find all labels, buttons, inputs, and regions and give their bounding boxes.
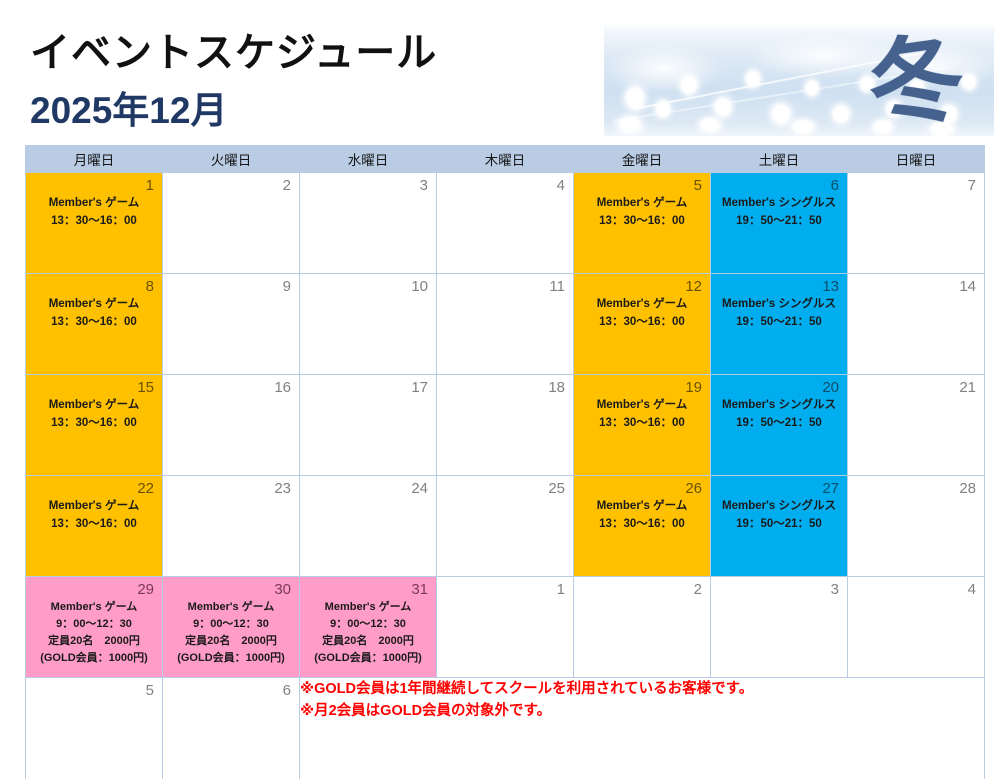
weekday-header-4: 金曜日 [574, 146, 711, 173]
day-number: 4 [437, 173, 573, 194]
day-number: 2 [163, 173, 299, 194]
day-number: 17 [300, 375, 436, 396]
snow-tree-icon [692, 112, 728, 136]
event-text-line: 13：30〜16：00 [26, 515, 162, 533]
event-text-line: Member's ゲーム [26, 295, 162, 313]
event-text-line: 13：30〜16：00 [26, 414, 162, 432]
day-number: 5 [26, 678, 162, 699]
day-cell[interactable]: 3 [711, 577, 848, 678]
day-number: 1 [437, 577, 573, 598]
event-text-line: Member's ゲーム [574, 396, 710, 414]
calendar-week-row: 29Member's ゲーム9：00〜12：30定員20名 2000円(GOLD… [26, 577, 985, 678]
event-text-line: 19：50〜21：50 [711, 414, 847, 432]
calendar-page: 冬 イベントスケジュール 2025年12月 月曜日火曜日水曜日木曜日金曜日土曜日… [0, 0, 1006, 779]
day-number: 7 [848, 173, 984, 194]
event-text-line: (GOLD会員：1000円) [163, 649, 299, 666]
event-text-line: (GOLD会員：1000円) [300, 649, 436, 666]
event-text-line: Member's シングルス [711, 295, 847, 313]
event-text-line: Member's ゲーム [574, 497, 710, 515]
event-text-line: Member's ゲーム [300, 598, 436, 615]
day-number: 10 [300, 274, 436, 295]
day-cell[interactable]: 8Member's ゲーム13：30〜16：00 [26, 274, 163, 375]
weekday-header-row: 月曜日火曜日水曜日木曜日金曜日土曜日日曜日 [26, 146, 985, 173]
day-cell[interactable]: 30Member's ゲーム9：00〜12：30定員20名 2000円(GOLD… [163, 577, 300, 678]
snow-tree-icon [800, 74, 824, 102]
day-cell[interactable]: 28 [848, 476, 985, 577]
event-text-line: 定員20名 2000円 [300, 632, 436, 649]
weekday-header-2: 水曜日 [300, 146, 437, 173]
day-number: 1 [26, 173, 162, 194]
day-number: 8 [26, 274, 162, 295]
weekday-header-1: 火曜日 [163, 146, 300, 173]
calendar-last-row: 56※GOLD会員は1年間継続してスクールを利用されているお客様です。※月2会員… [26, 678, 985, 779]
day-number: 21 [848, 375, 984, 396]
calendar-week-row: 1Member's ゲーム13：30〜16：002345Member's ゲーム… [26, 173, 985, 274]
day-number: 2 [574, 577, 710, 598]
day-number: 6 [711, 173, 847, 194]
day-cell[interactable]: 5 [26, 678, 163, 779]
day-cell[interactable]: 12Member's ゲーム13：30〜16：00 [574, 274, 711, 375]
event-text-line: Member's ゲーム [163, 598, 299, 615]
note-line: ※月2会員はGOLD会員の対象外です。 [300, 700, 984, 722]
day-cell[interactable]: 10 [300, 274, 437, 375]
snow-frost [604, 44, 724, 94]
day-cell[interactable]: 1 [437, 577, 574, 678]
event-text-line: 9：00〜12：30 [163, 615, 299, 632]
event-text-line: Member's シングルス [711, 497, 847, 515]
day-number: 30 [163, 577, 299, 598]
day-cell[interactable]: 19Member's ゲーム13：30〜16：00 [574, 375, 711, 476]
day-cell[interactable]: 3 [300, 173, 437, 274]
event-text-line: 19：50〜21：50 [711, 313, 847, 331]
day-number: 11 [437, 274, 573, 295]
day-number: 16 [163, 375, 299, 396]
day-cell[interactable]: 29Member's ゲーム9：00〜12：30定員20名 2000円(GOLD… [26, 577, 163, 678]
weekday-header-6: 日曜日 [848, 146, 985, 173]
day-number: 18 [437, 375, 573, 396]
event-text-line: 9：00〜12：30 [26, 615, 162, 632]
snow-tree-icon [650, 94, 676, 124]
page-subtitle: 2025年12月 [30, 80, 227, 134]
notes-cell: ※GOLD会員は1年間継続してスクールを利用されているお客様です。※月2会員はG… [300, 678, 985, 779]
weekday-header-5: 土曜日 [711, 146, 848, 173]
day-cell[interactable]: 31Member's ゲーム9：00〜12：30定員20名 2000円(GOLD… [300, 577, 437, 678]
day-number: 31 [300, 577, 436, 598]
event-text-line: Member's ゲーム [26, 598, 162, 615]
snow-tree-icon [826, 98, 856, 130]
event-text-line: 13：30〜16：00 [574, 414, 710, 432]
day-number: 13 [711, 274, 847, 295]
event-text-line: 9：00〜12：30 [300, 615, 436, 632]
day-number: 3 [711, 577, 847, 598]
day-cell[interactable]: 23 [163, 476, 300, 577]
event-text-line: 定員20名 2000円 [163, 632, 299, 649]
snow-tree-icon [784, 114, 822, 136]
day-cell[interactable]: 26Member's ゲーム13：30〜16：00 [574, 476, 711, 577]
event-calendar-table: 月曜日火曜日水曜日木曜日金曜日土曜日日曜日 1Member's ゲーム13：30… [25, 145, 985, 779]
day-cell[interactable]: 20Member's シングルス19：50〜21：50 [711, 375, 848, 476]
day-number: 29 [26, 577, 162, 598]
calendar-week-row: 8Member's ゲーム13：30〜16：009101112Member's … [26, 274, 985, 375]
day-cell[interactable]: 9 [163, 274, 300, 375]
event-text-line: Member's シングルス [711, 396, 847, 414]
day-cell[interactable]: 13Member's シングルス19：50〜21：50 [711, 274, 848, 375]
day-cell[interactable]: 22Member's ゲーム13：30〜16：00 [26, 476, 163, 577]
event-text-line: Member's ゲーム [26, 396, 162, 414]
event-text-line: 定員20名 2000円 [26, 632, 162, 649]
day-cell[interactable]: 6 [163, 678, 300, 779]
day-number: 24 [300, 476, 436, 497]
day-cell[interactable]: 5Member's ゲーム13：30〜16：00 [574, 173, 711, 274]
winter-kanji-icon: 冬 [849, 24, 982, 136]
snow-tree-icon [610, 110, 650, 136]
day-cell[interactable]: 1Member's ゲーム13：30〜16：00 [26, 173, 163, 274]
day-number: 20 [711, 375, 847, 396]
event-text-line: Member's ゲーム [574, 295, 710, 313]
day-number: 26 [574, 476, 710, 497]
day-cell[interactable]: 21 [848, 375, 985, 476]
day-number: 12 [574, 274, 710, 295]
event-text-line: 19：50〜21：50 [711, 212, 847, 230]
day-number: 6 [163, 678, 299, 699]
weekday-header-0: 月曜日 [26, 146, 163, 173]
event-text-line: Member's シングルス [711, 194, 847, 212]
day-cell[interactable]: 16 [163, 375, 300, 476]
day-cell[interactable]: 14 [848, 274, 985, 375]
event-text-line: 13：30〜16：00 [26, 212, 162, 230]
day-number: 5 [574, 173, 710, 194]
event-text-line: Member's ゲーム [26, 497, 162, 515]
day-number: 22 [26, 476, 162, 497]
day-cell[interactable]: 17 [300, 375, 437, 476]
page-title: イベントスケジュール [30, 20, 437, 78]
day-number: 4 [848, 577, 984, 598]
day-cell[interactable]: 24 [300, 476, 437, 577]
event-text-line: 19：50〜21：50 [711, 515, 847, 533]
event-text-line: Member's ゲーム [574, 194, 710, 212]
day-number: 3 [300, 173, 436, 194]
day-cell[interactable]: 2 [163, 173, 300, 274]
day-cell[interactable]: 7 [848, 173, 985, 274]
note-line: ※GOLD会員は1年間継続してスクールを利用されているお客様です。 [300, 678, 984, 700]
event-text-line: (GOLD会員：1000円) [26, 649, 162, 666]
weekday-header-3: 木曜日 [437, 146, 574, 173]
day-number: 27 [711, 476, 847, 497]
day-cell[interactable]: 4 [437, 173, 574, 274]
day-number: 19 [574, 375, 710, 396]
event-text-line: 13：30〜16：00 [574, 313, 710, 331]
day-number: 25 [437, 476, 573, 497]
day-number: 28 [848, 476, 984, 497]
event-text-line: 13：30〜16：00 [574, 515, 710, 533]
event-text-line: 13：30〜16：00 [26, 313, 162, 331]
day-cell[interactable]: 11 [437, 274, 574, 375]
day-number: 15 [26, 375, 162, 396]
day-cell[interactable]: 4 [848, 577, 985, 678]
day-number: 14 [848, 274, 984, 295]
day-cell[interactable]: 27Member's シングルス19：50〜21：50 [711, 476, 848, 577]
day-number: 23 [163, 476, 299, 497]
calendar-week-row: 22Member's ゲーム13：30〜16：0023242526Member'… [26, 476, 985, 577]
winter-banner-image: 冬 [604, 24, 994, 136]
event-text-line: 13：30〜16：00 [574, 212, 710, 230]
day-cell[interactable]: 18 [437, 375, 574, 476]
day-cell[interactable]: 6Member's シングルス19：50〜21：50 [711, 173, 848, 274]
day-cell[interactable]: 15Member's ゲーム13：30〜16：00 [26, 375, 163, 476]
event-text-line: Member's ゲーム [26, 194, 162, 212]
calendar-week-row: 15Member's ゲーム13：30〜16：0016171819Member'… [26, 375, 985, 476]
day-cell[interactable]: 2 [574, 577, 711, 678]
day-number: 9 [163, 274, 299, 295]
day-cell[interactable]: 25 [437, 476, 574, 577]
